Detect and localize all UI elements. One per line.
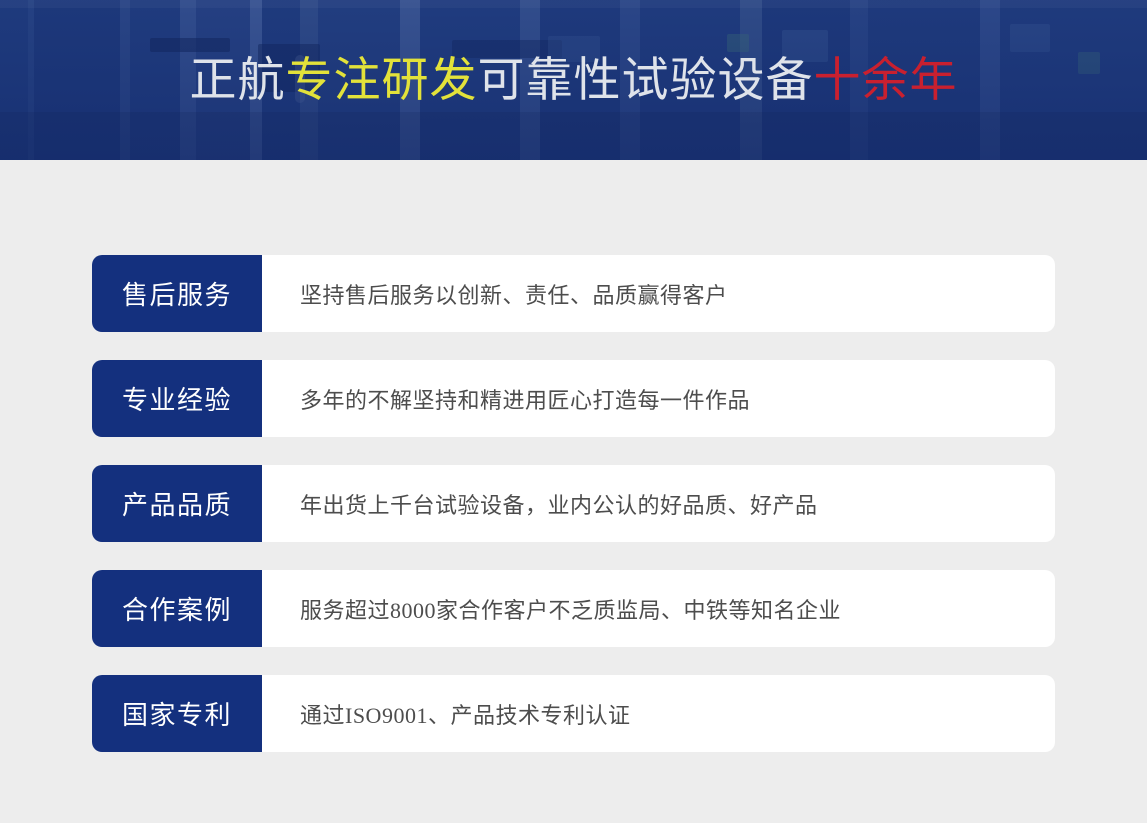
feature-description: 坚持售后服务以创新、责任、品质赢得客户 [262,255,1055,332]
feature-description-text: 年出货上千台试验设备，业内公认的好品质、好产品 [300,488,818,520]
banner-title: 正航专注研发可靠性试验设备十余年 [0,52,1147,110]
feature-label-text: 专业经验 [122,380,232,417]
banner-title-part-2: 专注研发 [286,55,478,107]
feature-description: 服务超过8000家合作客户不乏质监局、中铁等知名企业 [262,570,1055,647]
feature-description-text: 通过ISO9001、产品技术专利认证 [300,698,630,730]
feature-description: 年出货上千台试验设备，业内公认的好品质、好产品 [262,465,1055,542]
feature-row[interactable]: 国家专利 通过ISO9001、产品技术专利认证 [92,675,1055,752]
banner-title-part-1: 正航 [190,55,286,107]
feature-row[interactable]: 专业经验 多年的不解坚持和精进用匠心打造每一件作品 [92,360,1055,437]
feature-label-badge: 合作案例 [92,570,262,647]
feature-label-badge: 售后服务 [92,255,262,332]
feature-description-text: 坚持售后服务以创新、责任、品质赢得客户 [300,278,728,310]
feature-label-text: 国家专利 [122,695,232,732]
banner-title-part-3: 可靠性试验设备 [478,55,814,107]
feature-description: 通过ISO9001、产品技术专利认证 [262,675,1055,752]
feature-label-badge: 国家专利 [92,675,262,752]
feature-label-badge: 专业经验 [92,360,262,437]
feature-row[interactable]: 售后服务 坚持售后服务以创新、责任、品质赢得客户 [92,255,1055,332]
feature-description-text: 服务超过8000家合作客户不乏质监局、中铁等知名企业 [300,593,841,625]
feature-label-text: 售后服务 [122,275,232,312]
feature-label-text: 产品品质 [122,485,232,522]
feature-row[interactable]: 合作案例 服务超过8000家合作客户不乏质监局、中铁等知名企业 [92,570,1055,647]
hero-banner: 正航专注研发可靠性试验设备十余年 [0,0,1147,160]
feature-description: 多年的不解坚持和精进用匠心打造每一件作品 [262,360,1055,437]
feature-row[interactable]: 产品品质 年出货上千台试验设备，业内公认的好品质、好产品 [92,465,1055,542]
feature-label-badge: 产品品质 [92,465,262,542]
feature-list: 售后服务 坚持售后服务以创新、责任、品质赢得客户 专业经验 多年的不解坚持和精进… [92,255,1055,780]
feature-description-text: 多年的不解坚持和精进用匠心打造每一件作品 [300,383,750,415]
banner-title-part-4: 十余年 [814,55,958,107]
feature-label-text: 合作案例 [122,590,232,627]
